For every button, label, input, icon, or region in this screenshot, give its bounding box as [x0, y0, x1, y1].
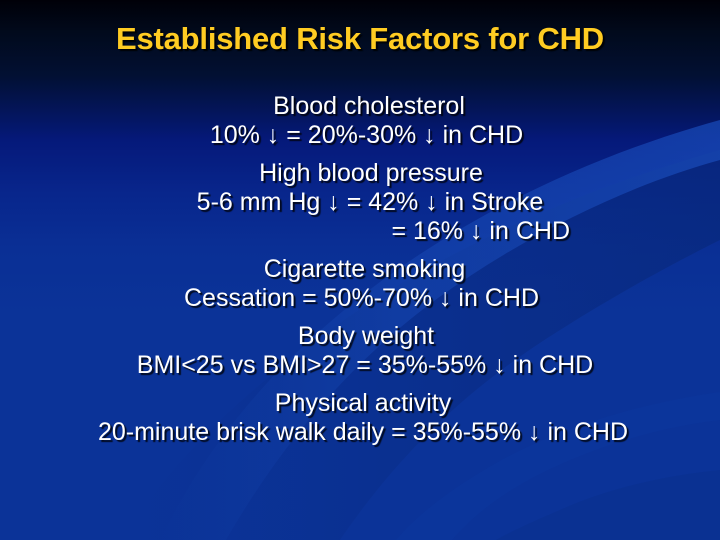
risk-factor-group-cigarette-smoking: Cigarette smoking Cessation = 50%-70% ↓ …	[0, 255, 720, 313]
slide-title: Established Risk Factors for CHD	[0, 21, 720, 57]
risk-factor-detail: 10% ↓ = 20%-30% ↓ in CHD	[0, 121, 720, 150]
risk-factor-detail: 5-6 mm Hg ↓ = 42% ↓ in Stroke	[0, 188, 720, 217]
risk-factor-detail: 20-minute brisk walk daily = 35%-55% ↓ i…	[0, 418, 720, 447]
risk-factor-detail-continuation: = 16% ↓ in CHD	[0, 217, 720, 246]
risk-factor-heading: Body weight	[0, 322, 720, 351]
presentation-slide: Established Risk Factors for CHD Blood c…	[0, 0, 720, 540]
risk-factor-heading: High blood pressure	[0, 159, 720, 188]
risk-factor-heading: Physical activity	[0, 389, 720, 418]
risk-factor-group-high-blood-pressure: High blood pressure 5-6 mm Hg ↓ = 42% ↓ …	[0, 159, 720, 246]
slide-body: Blood cholesterol 10% ↓ = 20%-30% ↓ in C…	[0, 92, 720, 447]
risk-factor-detail: BMI<25 vs BMI>27 = 35%-55% ↓ in CHD	[0, 351, 720, 380]
risk-factor-group-physical-activity: Physical activity 20-minute brisk walk d…	[0, 389, 720, 447]
risk-factor-group-body-weight: Body weight BMI<25 vs BMI>27 = 35%-55% ↓…	[0, 322, 720, 380]
risk-factor-group-blood-cholesterol: Blood cholesterol 10% ↓ = 20%-30% ↓ in C…	[0, 92, 720, 150]
risk-factor-heading: Cigarette smoking	[0, 255, 720, 284]
risk-factor-detail: Cessation = 50%-70% ↓ in CHD	[0, 284, 720, 313]
risk-factor-heading: Blood cholesterol	[0, 92, 720, 121]
